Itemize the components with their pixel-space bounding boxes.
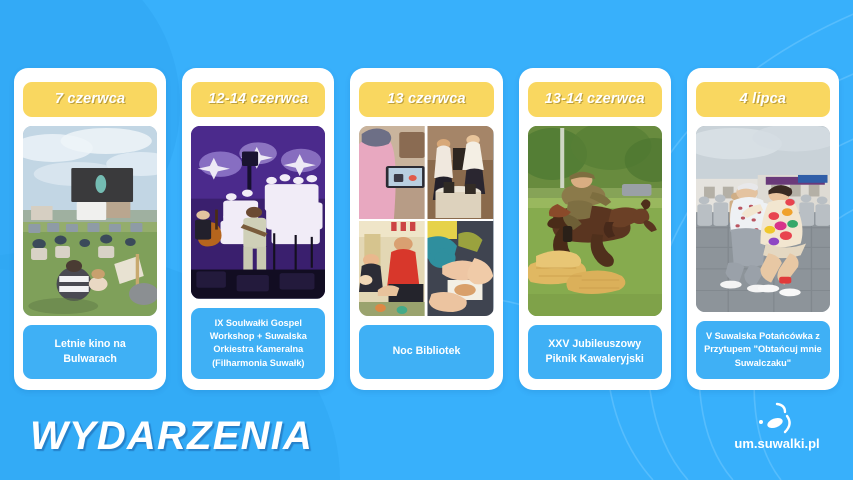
event-date-badge: 13-14 czerwca <box>528 82 662 117</box>
cavalry-horse-jump-photo <box>528 126 662 316</box>
events-card-row: 7 czerwca <box>14 68 839 390</box>
brand-logo[interactable]: um.suwalki.pl um.suwalki.pl <box>717 398 837 464</box>
outdoor-cinema-photo <box>23 126 157 316</box>
event-date-badge: 7 czerwca <box>23 82 157 117</box>
event-card[interactable]: 13-14 czerwca <box>519 68 671 390</box>
event-date-badge: 13 czerwca <box>359 82 493 117</box>
gospel-choir-stage-photo <box>191 126 325 299</box>
event-date-badge: 12-14 czerwca <box>191 82 325 117</box>
brand-text: um.suwalki.pl <box>734 436 819 451</box>
event-title: V Suwalska Potańcówka z Przytupem "Obtań… <box>696 321 830 379</box>
event-title: IX Soulwałki Gospel Workshop + Suwalska … <box>191 308 325 379</box>
suwalki-swoosh-icon <box>759 404 790 432</box>
event-date-badge: 4 lipca <box>696 82 830 117</box>
page-title: WYDARZENIA <box>30 414 313 459</box>
event-title: XXV Jubileuszowy Piknik Kawaleryjski <box>528 325 662 379</box>
dancing-couple-square-photo <box>696 126 830 312</box>
library-night-collage-photo <box>359 126 493 316</box>
event-card[interactable]: 7 czerwca <box>14 68 166 390</box>
event-card[interactable]: 12-14 czerwca <box>182 68 334 390</box>
event-card[interactable]: 4 lipca <box>687 68 839 390</box>
event-title: Noc Bibliotek <box>359 325 493 379</box>
event-card[interactable]: 13 czerwca <box>350 68 502 390</box>
event-title: Letnie kino na Bulwarach <box>23 325 157 379</box>
